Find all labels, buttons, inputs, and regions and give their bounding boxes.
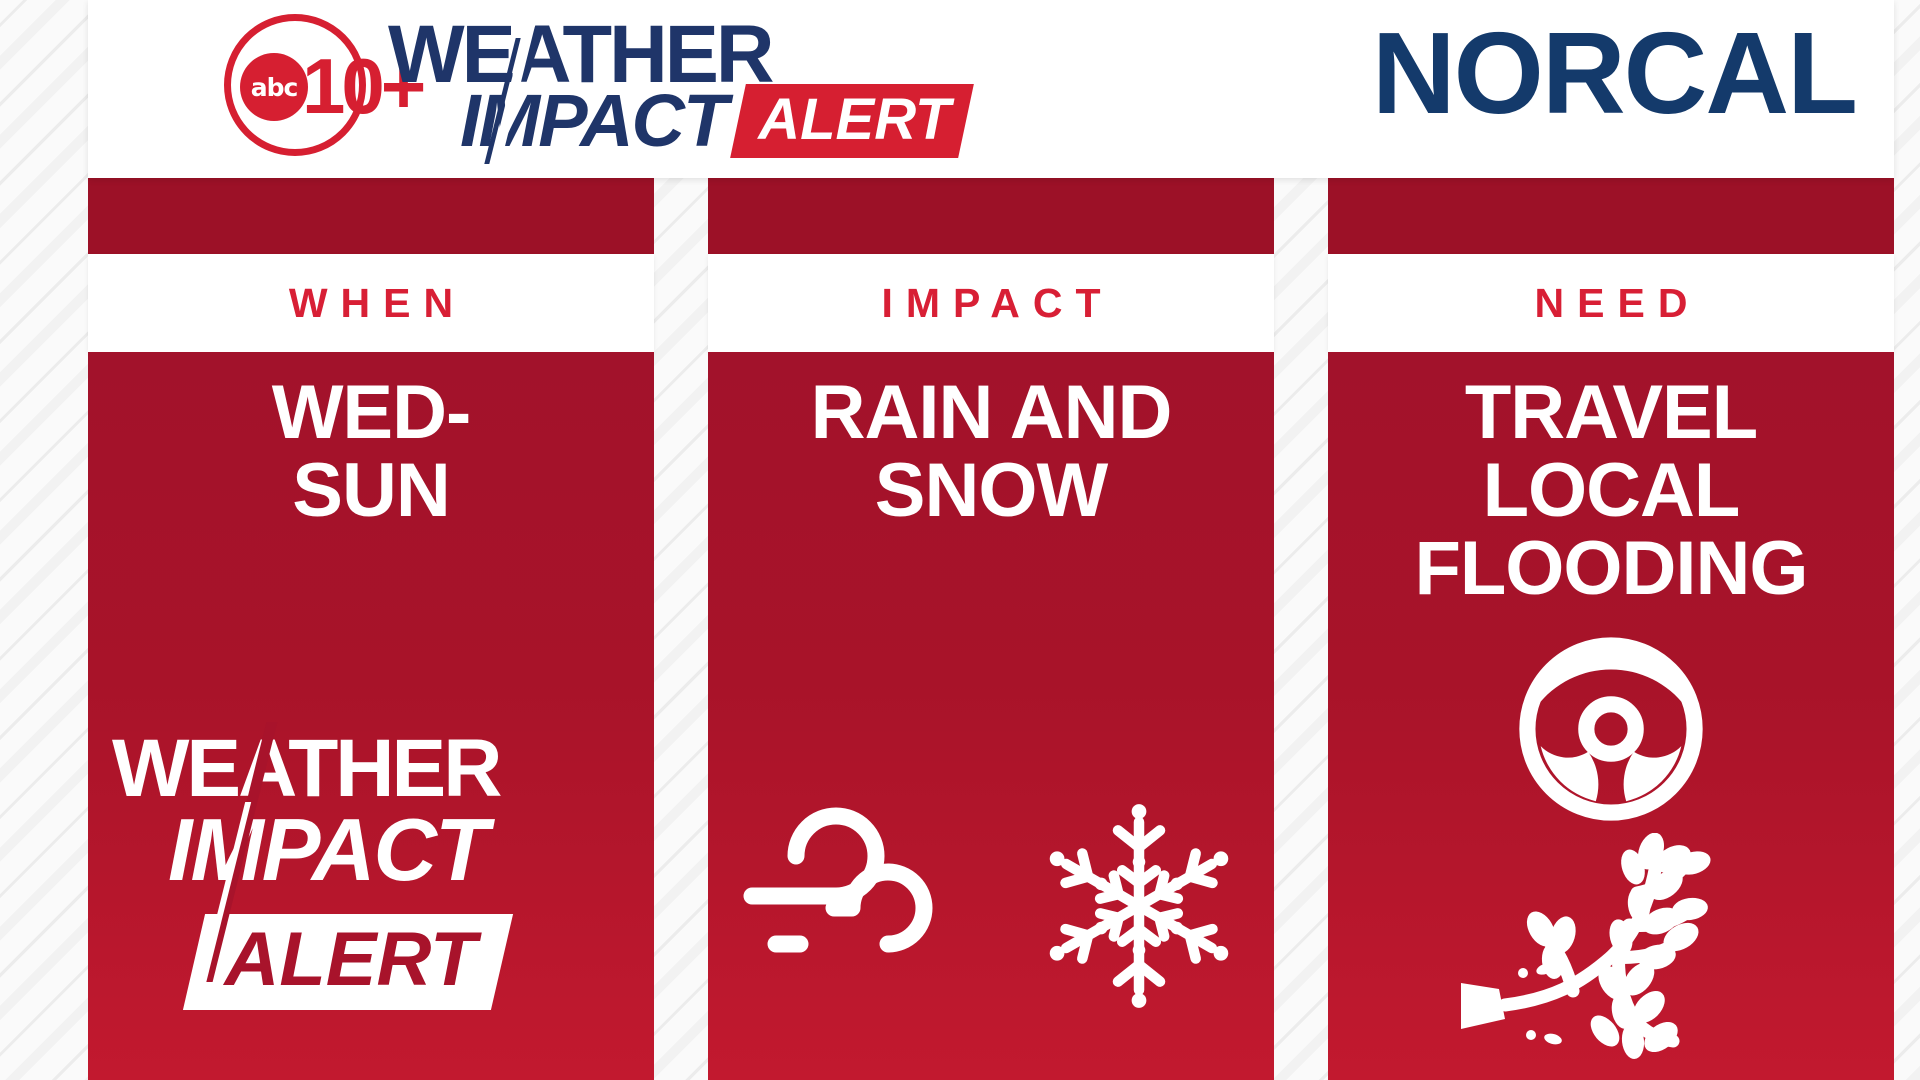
- column-label-band: IMPACT: [708, 254, 1274, 352]
- abc10-plus-logo: abc 10+: [218, 8, 380, 166]
- panel-columns: WHEN WED- SUN WEATHER IMPACT ALERT: [88, 178, 1894, 1080]
- snowflake-icon: [1034, 801, 1244, 1011]
- column-art-impact: [708, 530, 1274, 1080]
- column-body-when: WED- SUN WEATHER IMPACT ALERT: [88, 352, 654, 1080]
- lockup-alert-badge: ALERT: [730, 84, 974, 158]
- column-headline-need: TRAVEL LOCAL FLOODING: [1400, 374, 1821, 608]
- column-art-need: [1328, 608, 1894, 1080]
- lockup-second-row: IMPACT ALERT: [460, 84, 966, 158]
- column-headline-when: WED- SUN: [258, 374, 485, 530]
- lockup-white-alert-badge: ALERT: [183, 914, 513, 1010]
- column-when: WHEN WED- SUN WEATHER IMPACT ALERT: [88, 178, 654, 1080]
- header-band: abc 10+ WEATHER IMPACT ALERT NORCAL: [88, 0, 1894, 178]
- column-label-when: WHEN: [276, 280, 466, 327]
- column-label-band: NEED: [1328, 254, 1894, 352]
- weather-impact-alert-lockup-white: WEATHER IMPACT ALERT: [106, 728, 636, 1028]
- column-impact: IMPACT RAIN AND SNOW: [708, 178, 1274, 1080]
- column-label-impact: IMPACT: [868, 280, 1113, 327]
- lockup-white-alert-text: ALERT: [224, 918, 476, 1002]
- wind-snow-icon-group: [738, 796, 1244, 1016]
- weather-impact-alert-lockup: WEATHER IMPACT ALERT: [388, 14, 1078, 164]
- column-top-bar: [708, 178, 1274, 254]
- column-body-need: TRAVEL LOCAL FLOODING: [1328, 352, 1894, 1080]
- column-top-bar: [1328, 178, 1894, 254]
- lockup-white-impact-text: IMPACT: [168, 806, 487, 894]
- broken-tree-branch-icon-wrap: [1461, 833, 1761, 1068]
- column-body-impact: RAIN AND SNOW: [708, 352, 1274, 1080]
- wind-icon: [738, 796, 1038, 1016]
- lockup-white-weather-text: WEATHER: [112, 728, 499, 810]
- region-title: NORCAL: [1372, 10, 1856, 136]
- column-top-bar: [88, 178, 654, 254]
- steering-wheel-icon-wrap: [1516, 634, 1706, 829]
- abc-wordmark: abc: [240, 53, 308, 121]
- column-need: NEED TRAVEL LOCAL FLOODING: [1328, 178, 1894, 1080]
- column-art-when: WEATHER IMPACT ALERT: [88, 530, 654, 1080]
- column-label-band: WHEN: [88, 254, 654, 352]
- broken-tree-branch-icon: [1461, 833, 1761, 1063]
- weather-impact-alert-graphic: abc 10+ WEATHER IMPACT ALERT NORCAL WHEN: [0, 0, 1920, 1080]
- steering-wheel-icon: [1516, 634, 1706, 824]
- column-label-need: NEED: [1522, 280, 1701, 327]
- column-headline-impact: RAIN AND SNOW: [797, 374, 1186, 530]
- lockup-alert-text: ALERT: [758, 88, 950, 152]
